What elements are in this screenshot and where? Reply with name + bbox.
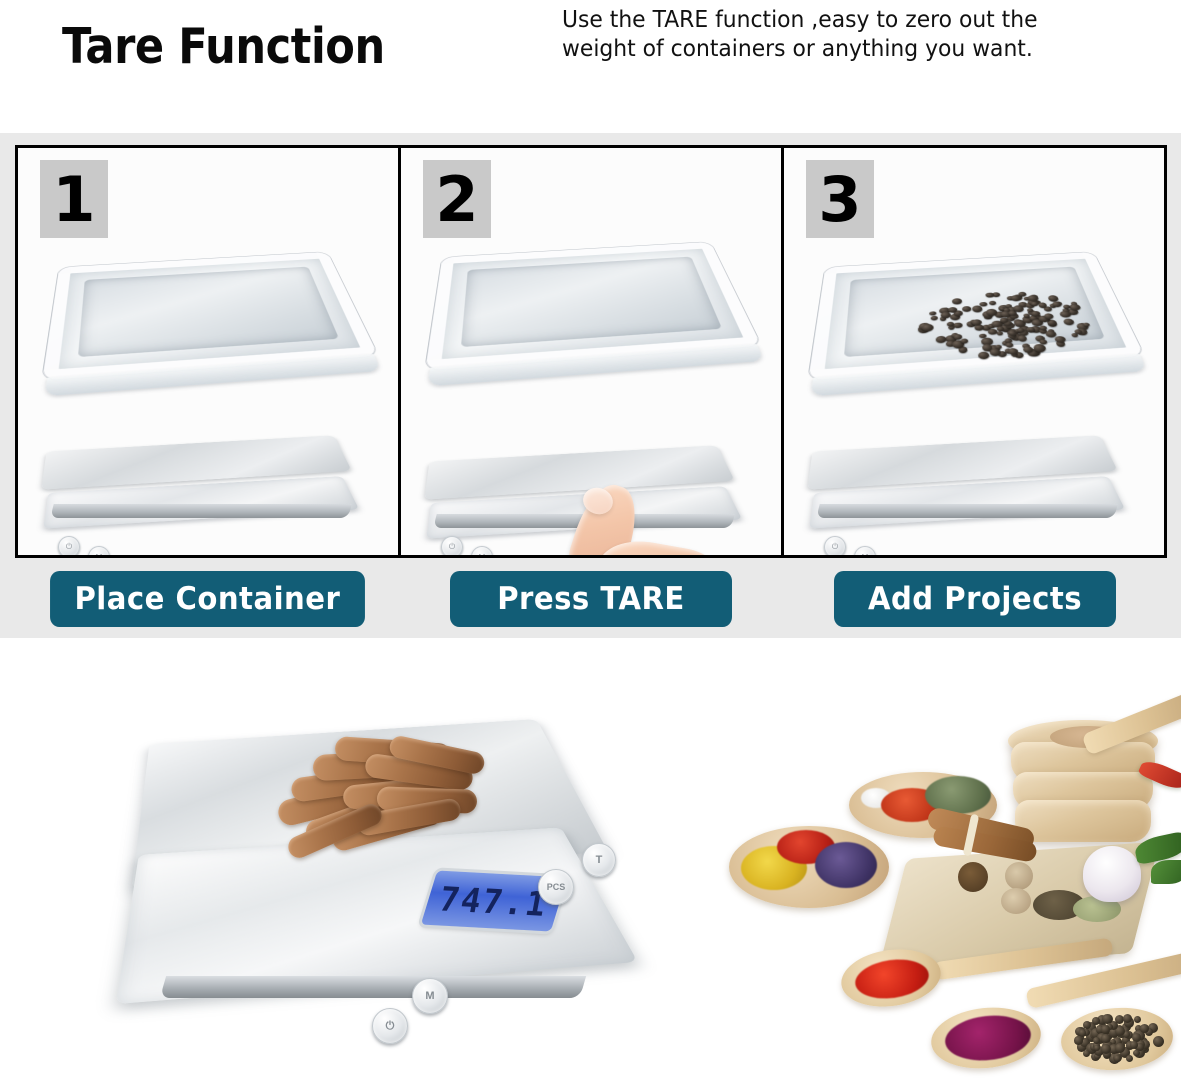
- step-panel-2: 2 ⏻ M PCS: [398, 148, 781, 555]
- scale-edge-1: [50, 504, 351, 518]
- nutmeg-1: [1005, 862, 1033, 890]
- infographic-page: Tare Function Use the TARE function ,eas…: [0, 0, 1181, 1087]
- product-pieces-button[interactable]: PCS: [538, 869, 574, 905]
- memory-button-1[interactable]: M: [88, 546, 110, 555]
- step-captions: Place Container Press TARE Add Projects: [15, 571, 1167, 631]
- power-button-2[interactable]: ⏻: [441, 536, 463, 555]
- product-scale-edge: [160, 976, 586, 998]
- header-subtitle: Use the TARE function ,easy to zero out …: [562, 6, 1075, 64]
- memory-button-3[interactable]: M: [854, 546, 876, 555]
- spices-photo: [715, 650, 1181, 1087]
- caption-press-tare: Press TARE: [450, 571, 732, 627]
- caption-cell-2: Press TARE: [399, 571, 783, 631]
- memory-label: M: [96, 553, 103, 556]
- power-icon: ⏻: [66, 542, 72, 552]
- tare-label: T: [596, 854, 603, 866]
- memory-label: M: [425, 990, 434, 1002]
- dried-berry-heap: [815, 842, 877, 888]
- peppercorn-pile: [908, 282, 1121, 371]
- scale-edge-3: [816, 504, 1117, 518]
- product-memory-button[interactable]: M: [412, 978, 448, 1014]
- memory-label: M: [479, 553, 486, 556]
- peppercorns-in-spoon: [1071, 1014, 1163, 1064]
- container-3: [808, 252, 1145, 381]
- green-leaf: [1151, 860, 1181, 884]
- product-power-button[interactable]: ⏻: [372, 1008, 408, 1044]
- garlic-bulb: [1083, 846, 1141, 902]
- power-icon: ⏻: [386, 1020, 395, 1033]
- bottom-section: 747.1 T PCS M ⏻: [0, 638, 1181, 1087]
- nutmeg-2: [1001, 888, 1031, 914]
- power-button-3[interactable]: ⏻: [824, 536, 846, 555]
- steps-panels: 1 ⏻ M PCS: [15, 145, 1167, 558]
- container-inner-1: [78, 267, 339, 357]
- step-panel-3: 3 ⏻ M PCS: [781, 148, 1164, 555]
- mortar-ring-3: [1015, 800, 1151, 842]
- product-tare-button[interactable]: T: [582, 843, 616, 877]
- container-1: [42, 252, 379, 381]
- step-number-badge-1: 1: [40, 160, 108, 238]
- pcs-label: PCS: [547, 882, 566, 892]
- power-icon: ⏻: [832, 542, 838, 552]
- step-panel-1: 1 ⏻ M PCS: [18, 148, 398, 555]
- caption-cell-1: Place Container: [15, 571, 399, 631]
- product-scale-photo: 747.1 T PCS M ⏻: [95, 656, 695, 1076]
- page-title: Tare Function: [62, 18, 385, 75]
- power-icon: ⏻: [449, 542, 455, 552]
- step-number-badge-2: 2: [423, 160, 491, 238]
- steps-strip: 1 ⏻ M PCS: [0, 133, 1181, 638]
- caption-add-projects: Add Projects: [834, 571, 1116, 627]
- caption-cell-3: Add Projects: [783, 571, 1167, 631]
- step-number-badge-3: 3: [806, 160, 874, 238]
- scale-body-3: ⏻ M PCS T 547.2: [812, 428, 1132, 548]
- power-button-1[interactable]: ⏻: [58, 536, 80, 555]
- star-anise: [958, 862, 988, 892]
- product-lcd-value: 747.1: [437, 879, 552, 924]
- memory-label: M: [862, 553, 869, 556]
- memory-button-2[interactable]: M: [471, 546, 493, 555]
- scale-body-1: ⏻ M PCS T 367.4: [46, 428, 366, 548]
- header: Tare Function Use the TARE function ,eas…: [0, 0, 1181, 133]
- container-inner-2: [461, 257, 722, 347]
- container-2: [425, 242, 762, 371]
- container-inner-3: [844, 267, 1105, 357]
- cinnamon-sticks: [273, 724, 483, 889]
- caption-place-container: Place Container: [50, 571, 365, 627]
